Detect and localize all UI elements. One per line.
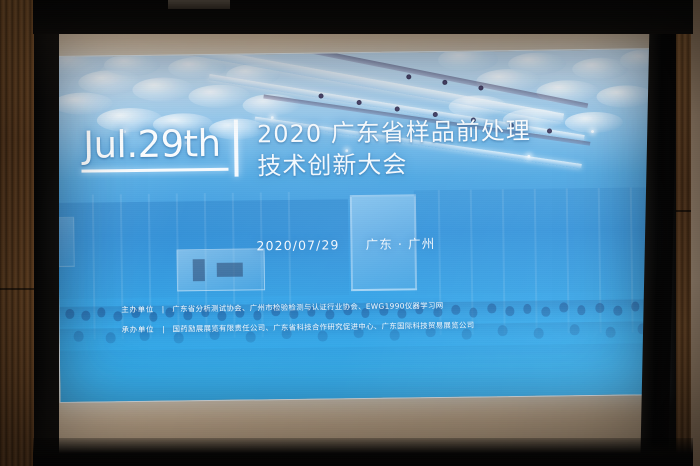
event-title: 2020 广东省样品前处理 技术创新大会 <box>257 115 532 183</box>
ceiling-panel-patch <box>168 0 230 9</box>
event-meta: 2020/07/29 广东 · 广州 <box>256 233 435 254</box>
projected-slide: Jul.29th 2020 广东省样品前处理 技术创新大会 2020/07/29… <box>56 49 654 402</box>
event-title-line1: 2020 广东省样品前处理 <box>257 115 531 151</box>
event-title-line2: 技术创新大会 <box>257 147 531 183</box>
event-meta-location: 广东 · 广州 <box>366 236 436 252</box>
organizer-separator-coorganizer: | <box>157 324 170 333</box>
organizer-value-host: 广东省分析测试协会、广州市检验检测与认证行业协会、EWG1990仪器学习网 <box>172 301 443 314</box>
conference-room-photo: Jul.29th 2020 广东省样品前处理 技术创新大会 2020/07/29… <box>0 0 700 466</box>
date-underline <box>81 168 228 173</box>
ceiling-dark-band <box>33 0 693 34</box>
organizer-separator-host: | <box>157 305 170 314</box>
far-right-wall <box>691 0 700 466</box>
event-date-english: Jul.29th <box>83 125 221 164</box>
event-meta-date: 2020/07/29 <box>256 237 339 253</box>
organizer-label-coorganizer: 承办单位 <box>122 324 155 333</box>
vertical-divider <box>234 120 239 177</box>
left-wood-panel <box>0 0 34 466</box>
left-dark-column <box>33 0 59 466</box>
slide-background: Jul.29th 2020 广东省样品前处理 技术创新大会 2020/07/29… <box>56 49 654 402</box>
organizer-label-host: 主办单位 <box>121 305 154 314</box>
organizer-block: 主办单位 | 广东省分析测试协会、广州市检验检测与认证行业协会、EWG1990仪… <box>121 294 621 340</box>
organizer-value-coorganizer: 国药励展展览有限责任公司、广东省科技合作研究促进中心、广东国际科技贸易展览公司 <box>173 320 475 333</box>
wall-base-shadow <box>33 438 693 466</box>
